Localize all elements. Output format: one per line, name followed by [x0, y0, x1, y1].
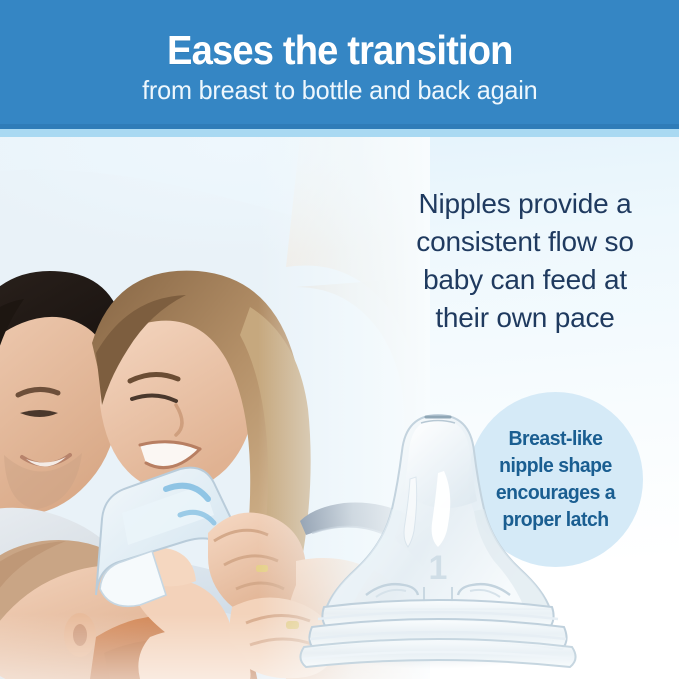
lede-line-1: Nipples provide a	[378, 185, 672, 223]
page-title: Eases the transition	[167, 28, 513, 72]
feature-description: Nipples provide a consistent flow so bab…	[378, 185, 672, 337]
content-area: Nipples provide a consistent flow so bab…	[0, 137, 679, 679]
flow-rate-numeral: 1	[429, 549, 448, 587]
page-subtitle: from breast to bottle and back again	[142, 75, 537, 105]
lede-line-3: baby can feed at	[378, 261, 672, 299]
product-feature-image: Eases the transition from breast to bott…	[0, 0, 679, 679]
header-accent-strip	[0, 129, 679, 137]
product-image-nipple: 1	[288, 397, 588, 679]
nipple-illustration: 1	[288, 397, 588, 679]
header-banner: Eases the transition from breast to bott…	[0, 0, 679, 128]
lede-line-2: consistent flow so	[378, 223, 672, 261]
lede-line-4: their own pace	[378, 299, 672, 337]
